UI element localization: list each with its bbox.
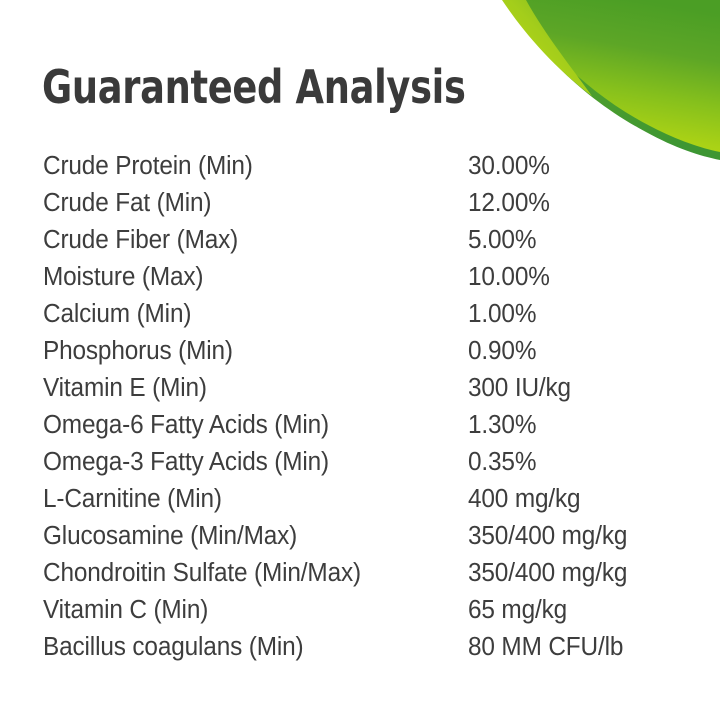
nutrient-value: 1.00% [468, 296, 536, 333]
nutrient-label: Bacillus coagulans (Min) [43, 629, 304, 666]
nutrient-label: Phosphorus (Min) [43, 333, 233, 370]
nutrient-label: Moisture (Max) [43, 259, 203, 296]
page-title: Guaranteed Analysis [42, 62, 466, 112]
nutrient-value: 350/400 mg/kg [468, 555, 627, 592]
nutrient-value: 1.30% [468, 407, 536, 444]
table-row: Chondroitin Sulfate (Min/Max) 350/400 mg… [43, 555, 703, 592]
nutrient-value: 300 IU/kg [468, 370, 571, 407]
nutrient-value: 0.90% [468, 333, 536, 370]
nutrient-label: Vitamin C (Min) [43, 592, 208, 629]
table-row: Omega-6 Fatty Acids (Min) 1.30% [43, 407, 703, 444]
table-row: Calcium (Min) 1.00% [43, 296, 703, 333]
table-row: Vitamin C (Min) 65 mg/kg [43, 592, 703, 629]
nutrient-label: Chondroitin Sulfate (Min/Max) [43, 555, 361, 592]
nutrient-value: 65 mg/kg [468, 592, 567, 629]
nutrient-value: 10.00% [468, 259, 550, 296]
table-row: Glucosamine (Min/Max) 350/400 mg/kg [43, 518, 703, 555]
table-row: Crude Fiber (Max) 5.00% [43, 222, 703, 259]
table-row: L-Carnitine (Min) 400 mg/kg [43, 481, 703, 518]
table-row: Omega-3 Fatty Acids (Min) 0.35% [43, 444, 703, 481]
table-row: Phosphorus (Min) 0.90% [43, 333, 703, 370]
nutrient-label: Omega-6 Fatty Acids (Min) [43, 407, 329, 444]
table-row: Bacillus coagulans (Min) 80 MM CFU/lb [43, 629, 703, 666]
nutrient-label: Calcium (Min) [43, 296, 191, 333]
nutrient-value: 80 MM CFU/lb [468, 629, 623, 666]
table-row: Crude Protein (Min) 30.00% [43, 148, 703, 185]
nutrient-label: Vitamin E (Min) [43, 370, 207, 407]
nutrient-label: Crude Fat (Min) [43, 185, 211, 222]
nutrient-value: 400 mg/kg [468, 481, 580, 518]
nutrient-label: Glucosamine (Min/Max) [43, 518, 297, 555]
table-row: Vitamin E (Min) 300 IU/kg [43, 370, 703, 407]
nutrient-label: Omega-3 Fatty Acids (Min) [43, 444, 329, 481]
guaranteed-analysis-table: Crude Protein (Min) 30.00% Crude Fat (Mi… [43, 148, 703, 666]
nutrient-label: Crude Fiber (Max) [43, 222, 238, 259]
nutrient-value: 0.35% [468, 444, 536, 481]
table-row: Crude Fat (Min) 12.00% [43, 185, 703, 222]
nutrient-value: 12.00% [468, 185, 550, 222]
nutrient-value: 5.00% [468, 222, 536, 259]
nutrient-value: 30.00% [468, 148, 550, 185]
guaranteed-analysis-panel: Guaranteed Analysis Crude Protein (Min) … [0, 0, 720, 720]
nutrient-label: L-Carnitine (Min) [43, 481, 222, 518]
nutrient-label: Crude Protein (Min) [43, 148, 253, 185]
nutrient-value: 350/400 mg/kg [468, 518, 627, 555]
table-row: Moisture (Max) 10.00% [43, 259, 703, 296]
